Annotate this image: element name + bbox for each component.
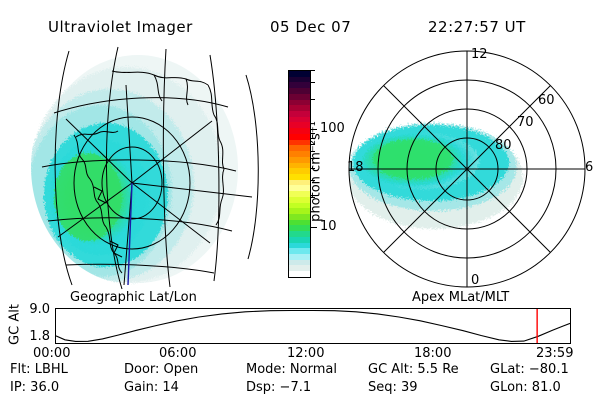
status-seq: Seq: 39 [368,380,418,395]
lat-ring-label-80: 80 [495,138,512,153]
colorbar-minor-tick [311,227,315,228]
globe-svg [14,45,269,290]
apex-polar-panel: 12 6 0 18 60 70 80 [345,45,595,293]
status-glon: GLon: 81.0 [490,380,561,395]
status-glat: GLat: −80.1 [490,362,569,377]
status-flt: Flt: LBHL [10,362,68,377]
instrument-title: Ultraviolet Imager [48,18,193,36]
colorbar-minor-tick [311,138,315,139]
strip-xtick-2: 12:00 [287,346,324,361]
strip-ytick-low: 1.8 [20,329,50,344]
status-gain: Gain: 14 [124,380,179,395]
strip-ytick-high: 9.0 [20,302,50,317]
mlt-label-18: 18 [347,160,364,175]
colorbar-minor-tick [311,129,315,130]
colorbar-minor-tick [311,70,315,71]
status-footer: Flt: LBHL Door: Open Mode: Normal GC Alt… [0,362,600,398]
strip-xtick-1: 06:00 [159,346,196,361]
lat-ring-label-70: 70 [517,115,534,130]
geographic-globe-panel [14,45,269,290]
colorbar-minor-tick [311,151,315,152]
polar-svg [345,45,595,293]
strip-plot-frame [55,308,571,344]
colorbar-panel: photon cm⁻²s⁻¹ 10010 [265,60,355,290]
status-row-1: Flt: LBHL Door: Open Mode: Normal GC Alt… [0,362,600,379]
colorbar-minor-tick [311,133,315,134]
colorbar-minor-tick [311,168,315,169]
status-ip: IP: 36.0 [10,380,59,395]
colorbar-tick-label-0: 100 [320,122,345,135]
observation-time: 22:27:57 UT [428,18,526,36]
colorbar-minor-tick [311,158,315,159]
polar-grid [349,51,585,287]
colorbar-tick-label-1: 10 [320,220,337,233]
orbit-altitude-curve [56,309,570,343]
status-door: Door: Open [124,362,198,377]
header-bar: Ultraviolet Imager 05 Dec 07 22:27:57 UT [0,9,600,35]
strip-xtick-3: 18:00 [414,346,451,361]
altitude-strip-plot: GC Alt 9.0 1.8 00:00 06:00 12:00 18:00 2… [0,300,600,358]
observation-date: 05 Dec 07 [270,18,351,36]
status-dsp: Dsp: −7.1 [246,380,311,395]
mlt-label-0: 0 [471,273,479,288]
strip-xtick-4: 23:59 [536,346,573,361]
strip-xtick-0: 00:00 [33,346,70,361]
colorbar-minor-tick [311,180,315,181]
colorbar-gradient [288,70,311,278]
mlt-label-12: 12 [471,47,488,62]
colorbar-minor-tick [311,144,315,145]
mlt-label-6: 6 [585,160,593,175]
colorbar-minor-tick [311,197,315,198]
status-gc-alt: GC Alt: 5.5 Re [368,362,459,377]
colorbar-minor-tick [311,82,315,83]
lat-ring-label-60: 60 [538,93,555,108]
colorbar-minor-tick [311,99,315,100]
colorbar-band [289,271,310,277]
status-mode: Mode: Normal [246,362,337,377]
status-row-2: IP: 36.0 Gain: 14 Dsp: −7.1 Seq: 39 GLon… [0,380,600,397]
